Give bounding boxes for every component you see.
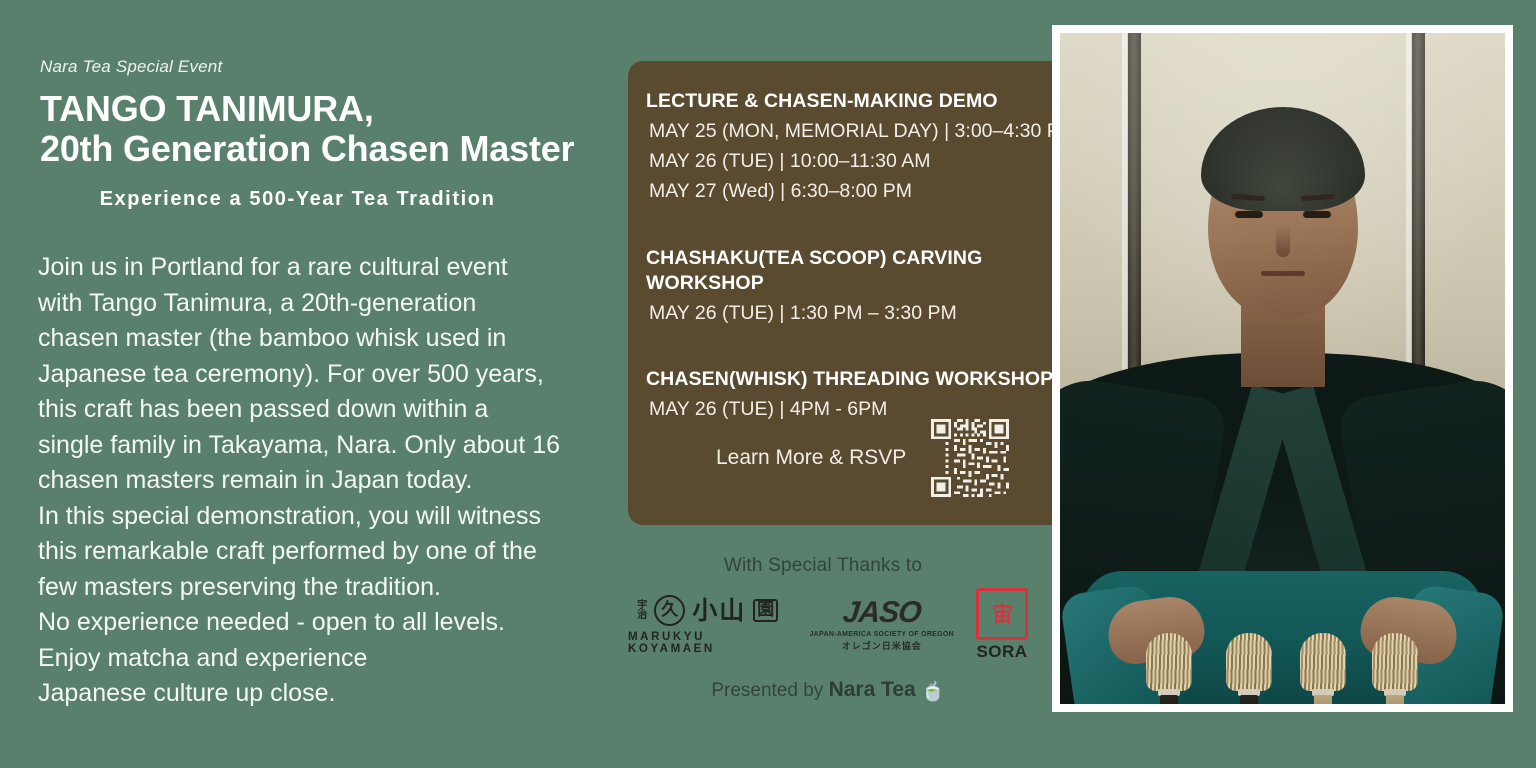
mouth <box>1261 271 1305 276</box>
event-flyer: Nara Tea Special Event TANGO TANIMURA, 2… <box>0 0 1536 768</box>
body-line: Join us in Portland for a rare cultural … <box>38 250 618 286</box>
session-title: CHASEN(WHISK) THREADING WORKSHOP <box>646 367 1084 391</box>
chasen-whisk-icon <box>1226 633 1272 704</box>
portrait-photo-frame <box>1052 25 1513 712</box>
marukyu-circle-icon: 久 <box>654 595 685 626</box>
qr-code-icon[interactable] <box>928 416 1012 500</box>
body-line: this remarkable craft performed by one o… <box>38 534 618 570</box>
uji-mark-icon: 宇 治 <box>637 601 647 620</box>
session-block-chashaku: CHASHAKU(TEA SCOOP) CARVING WORKSHOP MAY… <box>646 246 1084 328</box>
headline-group: Nara Tea Special Event TANGO TANIMURA, 2… <box>40 58 615 211</box>
eye-left <box>1235 211 1263 218</box>
jaso-japanese-name: オレゴン日米協会 <box>842 639 922 652</box>
jaso-brushmark-icon: JASO <box>841 598 922 628</box>
schedule-card: LECTURE & CHASEN-MAKING DEMO MAY 25 (MON… <box>628 61 1106 525</box>
rsvp-label: Learn More & RSVP <box>716 446 906 470</box>
body-line: No experience needed - open to all level… <box>38 605 618 641</box>
matcha-bowl-icon: 🍵 <box>921 681 945 703</box>
en-boxed-kanji: 園 <box>753 599 778 622</box>
sora-wordmark: SORA <box>976 642 1027 662</box>
body-line: Enjoy matcha and experience <box>38 641 618 677</box>
marukyu-romaji: MARUKYU KOYAMAEN <box>628 631 787 655</box>
marukyu-glyphs: 宇 治 久 小山 園 <box>637 595 778 626</box>
body-line: chasen masters remain in Japan today. <box>38 463 618 499</box>
title-line-1: TANGO TANIMURA, <box>40 89 615 129</box>
body-line: chasen master (the bamboo whisk used in <box>38 321 618 357</box>
title-line-2: 20th Generation Chasen Master <box>40 129 615 169</box>
portrait-photo <box>1060 33 1505 704</box>
subtitle: Experience a 500-Year Tea Tradition <box>40 187 615 211</box>
session-datetime: MAY 26 (TUE) | 10:00–11:30 AM <box>646 147 1084 177</box>
session-datetime: MAY 25 (MON, MEMORIAL DAY) | 3:00–4:30 P… <box>646 117 1084 147</box>
sora-seal-icon: 宙 <box>976 588 1028 640</box>
jaso-english-name: JAPAN-AMERICA SOCIETY OF OREGON <box>809 631 954 638</box>
body-line: single family in Takayama, Nara. Only ab… <box>38 428 618 464</box>
chasen-whisk-icon <box>1372 633 1418 704</box>
body-line: with Tango Tanimura, a 20th-generation <box>38 286 618 322</box>
thanks-title: With Special Thanks to <box>628 555 1018 577</box>
session-datetime: MAY 27 (Wed) | 6:30–8:00 PM <box>646 177 1084 207</box>
koyama-kanji: 小山 <box>692 598 746 623</box>
jaso-logo: JASO JAPAN-AMERICA SOCIETY OF OREGON オレゴ… <box>809 598 954 652</box>
nose <box>1276 225 1290 257</box>
body-line: this craft has been passed down within a <box>38 392 618 428</box>
rsvp-row[interactable]: Learn More & RSVP <box>646 416 1084 500</box>
chasen-whisk-icon <box>1300 633 1346 704</box>
page-title: TANGO TANIMURA, 20th Generation Chasen M… <box>40 89 615 170</box>
description-paragraph: Join us in Portland for a rare cultural … <box>38 250 618 712</box>
session-block-lecture: LECTURE & CHASEN-MAKING DEMO MAY 25 (MON… <box>646 89 1084 206</box>
presented-prefix: Presented by <box>711 680 823 701</box>
presented-by-line: Presented by Nara Tea 🍵 <box>628 678 1028 703</box>
sora-logo: 宙 SORA <box>976 588 1028 662</box>
session-title: LECTURE & CHASEN-MAKING DEMO <box>646 89 1084 113</box>
sponsor-logo-row: 宇 治 久 小山 園 MARUKYU KOYAMAEN JASO JAPAN-A… <box>628 588 1028 662</box>
body-line: In this special demonstration, you will … <box>38 499 618 535</box>
body-line: few masters preserving the tradition. <box>38 570 618 606</box>
brand-name: Nara Tea <box>829 678 916 701</box>
marukyu-koyamaen-logo: 宇 治 久 小山 園 MARUKYU KOYAMAEN <box>628 595 787 655</box>
body-line: Japanese culture up close. <box>38 676 618 712</box>
body-line: Japanese tea ceremony). For over 500 yea… <box>38 357 618 393</box>
session-datetime: MAY 26 (TUE) | 1:30 PM – 3:30 PM <box>646 299 1084 329</box>
chasen-whisk-icon <box>1146 633 1192 704</box>
eye-right <box>1303 211 1331 218</box>
eyebrow-label: Nara Tea Special Event <box>40 58 615 77</box>
session-title: CHASHAKU(TEA SCOOP) CARVING WORKSHOP <box>646 246 1084 295</box>
